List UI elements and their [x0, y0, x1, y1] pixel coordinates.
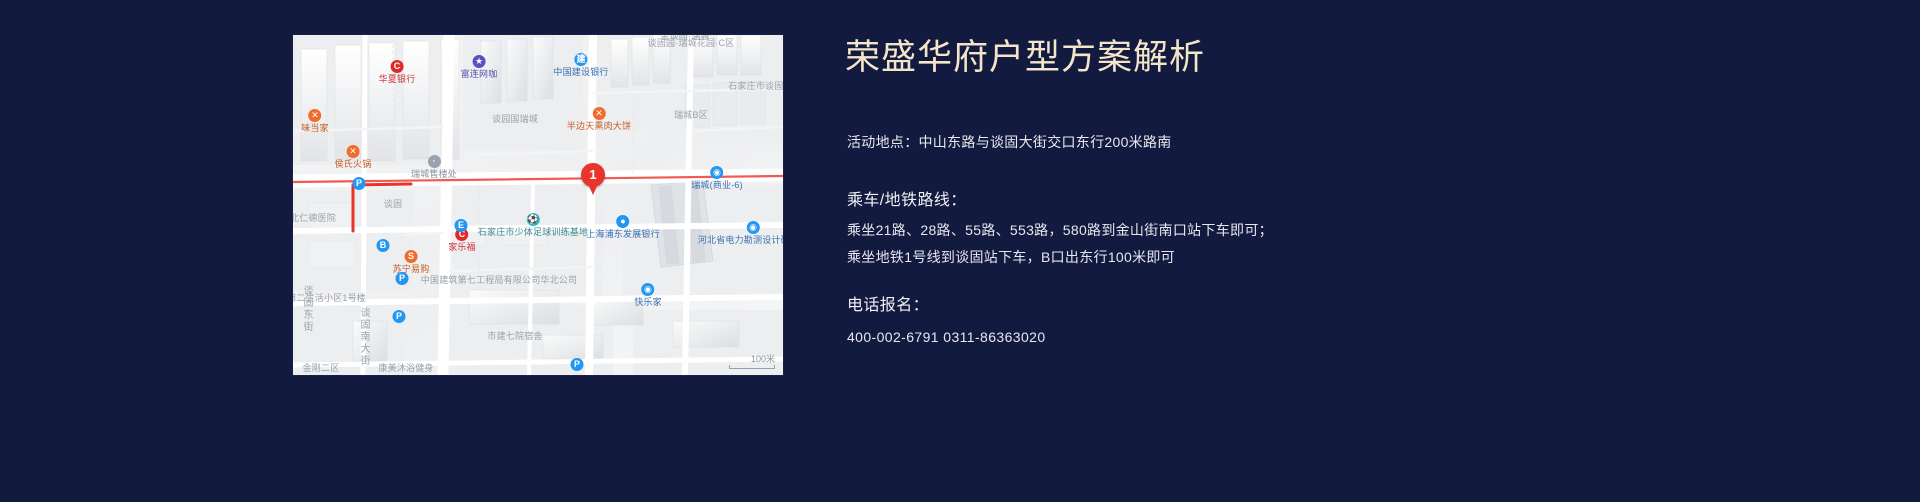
slide-root: C华夏银行★富连网咖建中国建设银行谈固园·瑞城花园·C区金谈固·瑞城石家庄市谈固… [0, 0, 1920, 502]
street-label-vertical-1: 谈固南大街 [356, 307, 371, 367]
transit-heading: 乘车/地铁路线： [847, 189, 967, 213]
map-scale-line [729, 365, 775, 369]
map-canvas[interactable]: C华夏银行★富连网咖建中国建设银行谈固园·瑞城花园·C区金谈固·瑞城石家庄市谈固… [293, 35, 783, 375]
pin-tail [588, 184, 598, 195]
street-label-vertical-2: 谈固东街 [299, 285, 314, 333]
map-destination-pin[interactable]: 1 [581, 163, 605, 195]
phone-heading: 电话报名： [847, 294, 929, 318]
page-title: 荣盛华府户型方案解析 [845, 36, 1205, 80]
location-map[interactable]: C华夏银行★富连网咖建中国建设银行谈固园·瑞城花园·C区金谈固·瑞城石家庄市谈固… [293, 35, 783, 375]
metro-route-text: 乘坐地铁1号线到谈固站下车，B口出东行100米即可 [847, 246, 1175, 268]
info-panel: 荣盛华府户型方案解析 活动地点：中山东路与谈固大街交口东行200米路南 乘车/地… [845, 0, 1665, 502]
bus-route-text: 乘坐21路、28路、55路、553路，580路到金山街南口站下车即可； [847, 219, 1273, 241]
pin-number: 1 [581, 163, 605, 187]
map-scale-bar: 100米 [729, 352, 775, 369]
map-scale-label: 100米 [751, 354, 775, 364]
phone-numbers[interactable]: 400-002-6791 0311-86363020 [847, 326, 1046, 348]
event-address: 活动地点：中山东路与谈固大街交口东行200米路南 [847, 131, 1172, 153]
